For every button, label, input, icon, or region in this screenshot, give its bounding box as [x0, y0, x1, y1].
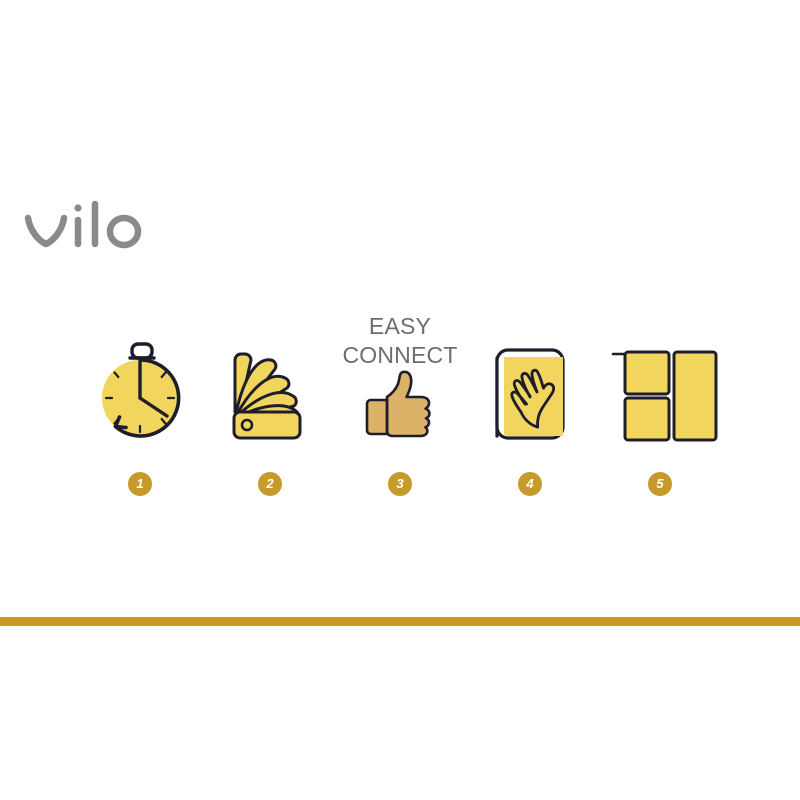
step-item-1: 1 — [80, 296, 200, 496]
step-5-artwork — [600, 336, 720, 446]
thumbs-up-icon — [357, 367, 443, 441]
step-5-badge: 5 — [648, 472, 672, 496]
step-item-3: EASY CONNECT 3 — [340, 296, 460, 496]
hand-wiping-panel-icon — [475, 336, 585, 446]
step-4-artwork — [470, 336, 590, 446]
panel-tile-right — [674, 352, 716, 440]
step-item-5: 5 — [600, 296, 720, 496]
swatch-rivet-hole — [242, 420, 252, 430]
step-2-artwork — [210, 336, 330, 446]
step-3-artwork — [340, 362, 460, 446]
panel-layout-icon — [605, 336, 715, 446]
slide-canvas: vilo — [0, 0, 800, 800]
stopwatch-icon — [85, 336, 195, 446]
brand-logo: vilo — [22, 198, 182, 250]
step-3-badge: 3 — [388, 472, 412, 496]
gold-divider-bar — [0, 617, 800, 626]
caption-line-connect: CONNECT — [340, 341, 460, 370]
easy-connect-caption: EASY CONNECT — [340, 312, 460, 370]
step-item-4: 4 — [470, 296, 590, 496]
caption-line-easy: EASY — [340, 312, 460, 341]
step-1-badge: 1 — [128, 472, 152, 496]
panel-tile-top-left — [625, 352, 669, 394]
panel-tile-bottom-left — [625, 398, 669, 440]
step-2-badge: 2 — [258, 472, 282, 496]
color-swatch-fan-icon — [215, 336, 325, 446]
step-1-artwork — [80, 336, 200, 446]
vilo-wordmark-icon — [22, 198, 182, 250]
steps-row: 1 — [80, 296, 720, 496]
step-item-2: 2 — [210, 296, 330, 496]
step-4-badge: 4 — [518, 472, 542, 496]
vilo-i-dot — [74, 204, 81, 211]
